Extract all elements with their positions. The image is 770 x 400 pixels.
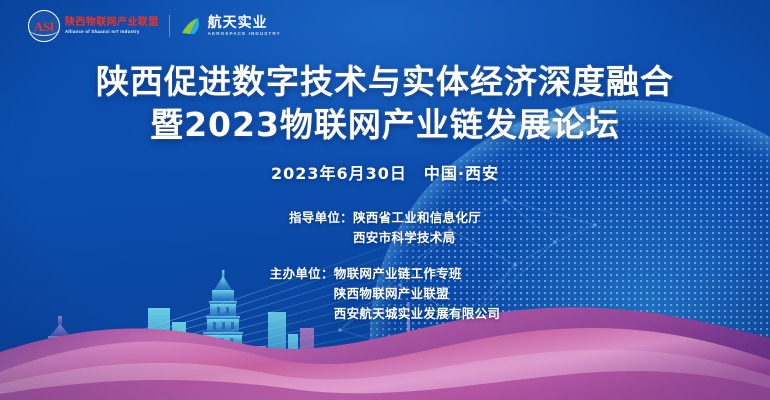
guidance-units-values: 陕西省工业和信息化厅 西安市科学技术局 [353, 208, 481, 249]
guidance-unit-1: 陕西省工业和信息化厅 [353, 208, 481, 228]
event-date-location: 2023年6月30日 中国·西安 [0, 160, 770, 184]
banner-content: ASI 陕西物联网产业联盟 Alliance of Shaanxi IoT In… [0, 0, 770, 400]
asi-swoosh-icon [28, 19, 60, 36]
event-title: 陕西促进数字技术与实体经济深度融合 暨2023物联网产业链发展论坛 [0, 62, 770, 146]
event-banner: ASI 陕西物联网产业联盟 Alliance of Shaanxi IoT In… [0, 0, 770, 400]
alliance-name-en: Alliance of Shaanxi IoT Industry [65, 30, 159, 34]
logo-divider [169, 15, 170, 37]
guidance-units: 指导单位： 陕西省工业和信息化厅 西安市科学技术局 [289, 208, 481, 249]
alliance-name-cn: 陕西物联网产业联盟 [65, 18, 159, 28]
alliance-logo-text: 陕西物联网产业联盟 Alliance of Shaanxi IoT Indust… [65, 18, 159, 35]
asi-badge-icon: ASI [28, 10, 60, 42]
guidance-units-label: 指导单位： [289, 208, 353, 228]
host-unit-1: 物联网产业链工作专班 [334, 264, 500, 284]
host-units-label: 主办单位： [270, 264, 334, 284]
title-line-2: 暨2023物联网产业链发展论坛 [0, 104, 770, 146]
aerospace-logo-text: 航天实业 AEROSPACE INDUSTRY [208, 15, 281, 37]
aerospace-logo: 航天实业 AEROSPACE INDUSTRY [180, 15, 281, 37]
aerospace-swoosh-icon [180, 16, 202, 36]
aerospace-name-cn: 航天实业 [208, 15, 281, 29]
guidance-unit-2: 西安市科学技术局 [353, 228, 481, 248]
aerospace-name-en: AEROSPACE INDUSTRY [208, 32, 281, 37]
host-unit-3: 西安航天城实业发展有限公司 [334, 304, 500, 324]
host-unit-2: 陕西物联网产业联盟 [334, 284, 500, 304]
title-line-1: 陕西促进数字技术与实体经济深度融合 [0, 62, 770, 102]
host-units: 主办单位： 物联网产业链工作专班 陕西物联网产业联盟 西安航天城实业发展有限公司 [270, 264, 500, 325]
host-units-values: 物联网产业链工作专班 陕西物联网产业联盟 西安航天城实业发展有限公司 [334, 264, 500, 325]
logo-bar: ASI 陕西物联网产业联盟 Alliance of Shaanxi IoT In… [28, 10, 281, 42]
alliance-logo: ASI 陕西物联网产业联盟 Alliance of Shaanxi IoT In… [28, 10, 159, 42]
organizations-block: 指导单位： 陕西省工业和信息化厅 西安市科学技术局 主办单位： 物联网产业链工作… [0, 208, 770, 324]
